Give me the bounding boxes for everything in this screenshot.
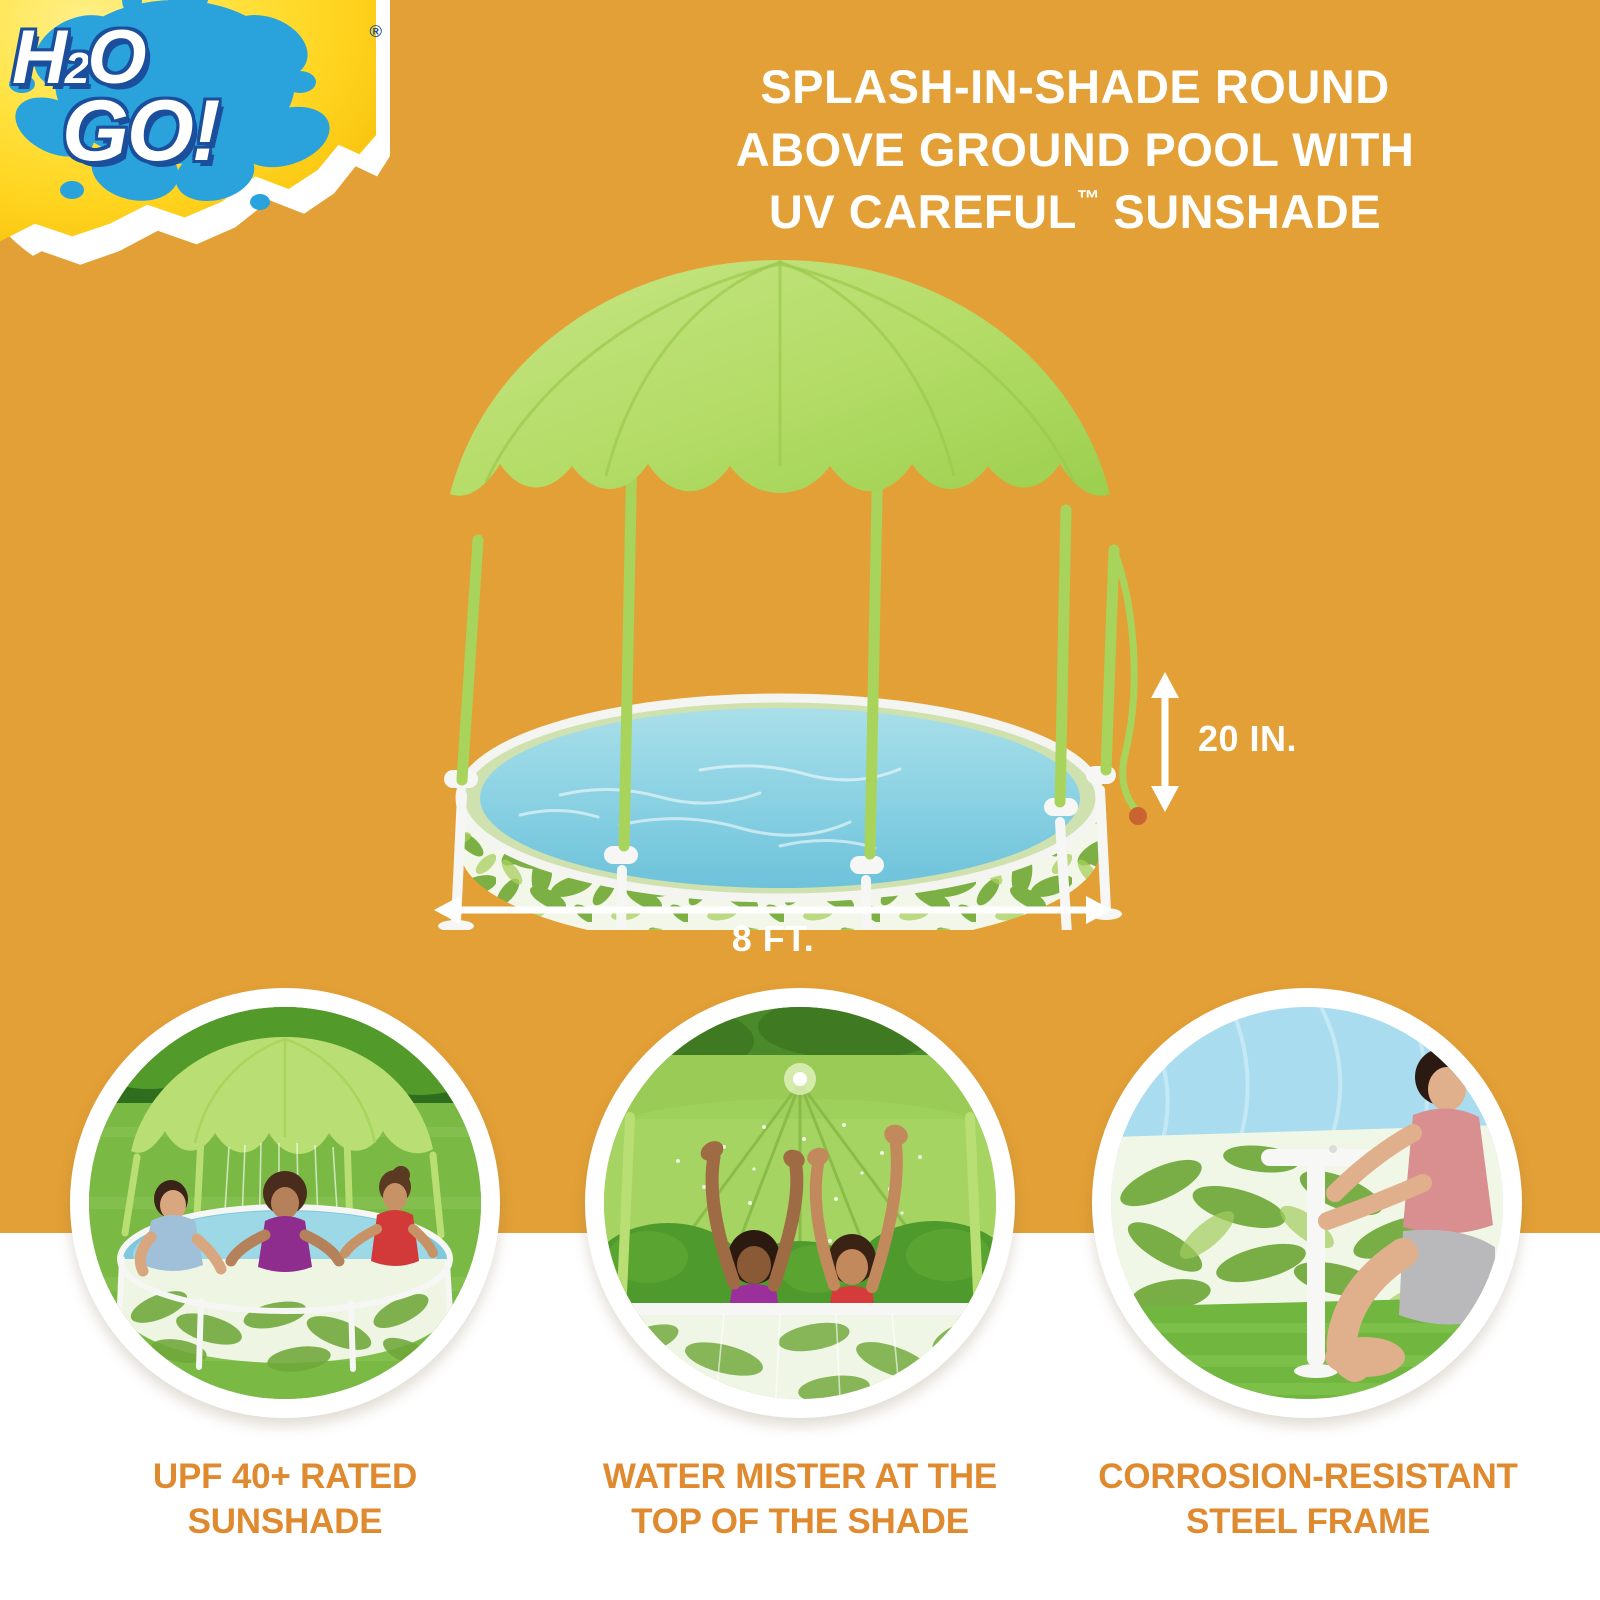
caption-upf-sunshade: UPF 40+ RATED SUNSHADE xyxy=(45,1455,525,1545)
page-title: SPLASH-IN-SHADE ROUND ABOVE GROUND POOL … xyxy=(600,56,1550,244)
title-line-2: ABOVE GROUND POOL WITH xyxy=(600,119,1550,182)
registered-trademark-icon: ® xyxy=(369,22,382,42)
hero-product-image xyxy=(400,250,1160,930)
caption-line-2: STEEL FRAME xyxy=(1068,1500,1548,1545)
photo-kids-under-water-mister-spray xyxy=(604,1007,996,1399)
feature-card-water-mister[interactable] xyxy=(585,988,1015,1418)
caption-line-1: WATER MISTER AT THE xyxy=(560,1455,1040,1500)
title-line-1: SPLASH-IN-SHADE ROUND xyxy=(600,56,1550,119)
photo-family-playing-in-shaded-pool xyxy=(89,1007,481,1399)
logo-wordmark: H2O GO! xyxy=(4,4,304,204)
feature-card-upf-sunshade[interactable] xyxy=(70,988,500,1418)
product-feature-graphic: H2O GO! ® SPLASH-IN-SHADE ROUND ABOVE GR… xyxy=(0,0,1600,1600)
title-line-3: UV CAREFUL™ SUNSHADE xyxy=(600,181,1550,244)
caption-line-1: CORROSION-RESISTANT xyxy=(1068,1455,1548,1500)
feature-highlights xyxy=(0,988,1600,1438)
caption-line-1: UPF 40+ RATED xyxy=(45,1455,525,1500)
trademark-icon: ™ xyxy=(1077,185,1100,211)
feature-captions: UPF 40+ RATED SUNSHADE WATER MISTER AT T… xyxy=(0,1455,1600,1595)
caption-line-2: TOP OF THE SHADE xyxy=(560,1500,1040,1545)
logo-go-text: GO! xyxy=(62,82,218,181)
height-dimension-label: 20 IN. xyxy=(1198,718,1297,760)
h2ogo-brand-logo: H2O GO! ® xyxy=(0,0,390,292)
feature-card-steel-frame[interactable] xyxy=(1092,988,1522,1418)
width-dimension-label: 8 FT. xyxy=(434,918,1112,960)
photo-woman-assembling-steel-frame-leg xyxy=(1111,1007,1503,1399)
caption-steel-frame: CORROSION-RESISTANT STEEL FRAME xyxy=(1068,1455,1548,1545)
caption-line-2: SUNSHADE xyxy=(45,1500,525,1545)
height-dimension-arrow xyxy=(1150,672,1180,812)
caption-water-mister: WATER MISTER AT THE TOP OF THE SHADE xyxy=(560,1455,1040,1545)
